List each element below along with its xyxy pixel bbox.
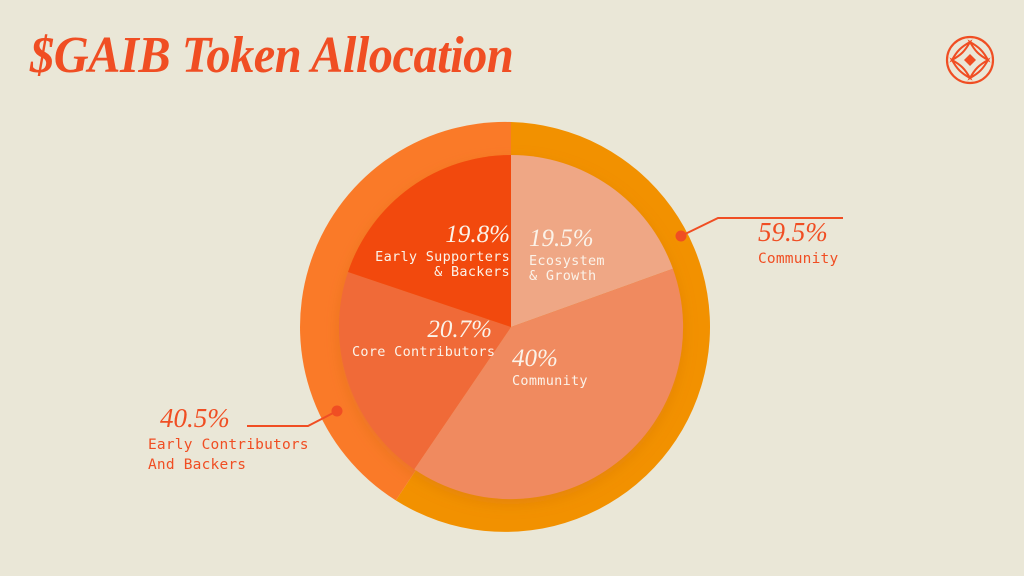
slide-canvas: $GAIB Token Allocation	[0, 0, 1024, 576]
callout-early-contributors: 40.5% Early Contributors And Backers	[148, 402, 309, 474]
callout-pct-community: 59.5%	[758, 216, 838, 249]
token-allocation-pie-chart: 19.8% Early Supporters & Backers 19.5% E…	[0, 0, 1024, 576]
inner-pie-group	[339, 155, 683, 499]
callout-name-early-contributors-line1: Early Contributors	[148, 437, 309, 455]
leader-dot-community	[676, 231, 687, 242]
callout-name-early-contributors-line2: And Backers	[148, 457, 309, 475]
callout-pct-early-contributors: 40.5%	[160, 402, 309, 435]
callout-name-community: Community	[758, 251, 838, 269]
leader-dot-early	[332, 406, 343, 417]
callout-community: 59.5% Community	[758, 216, 838, 269]
